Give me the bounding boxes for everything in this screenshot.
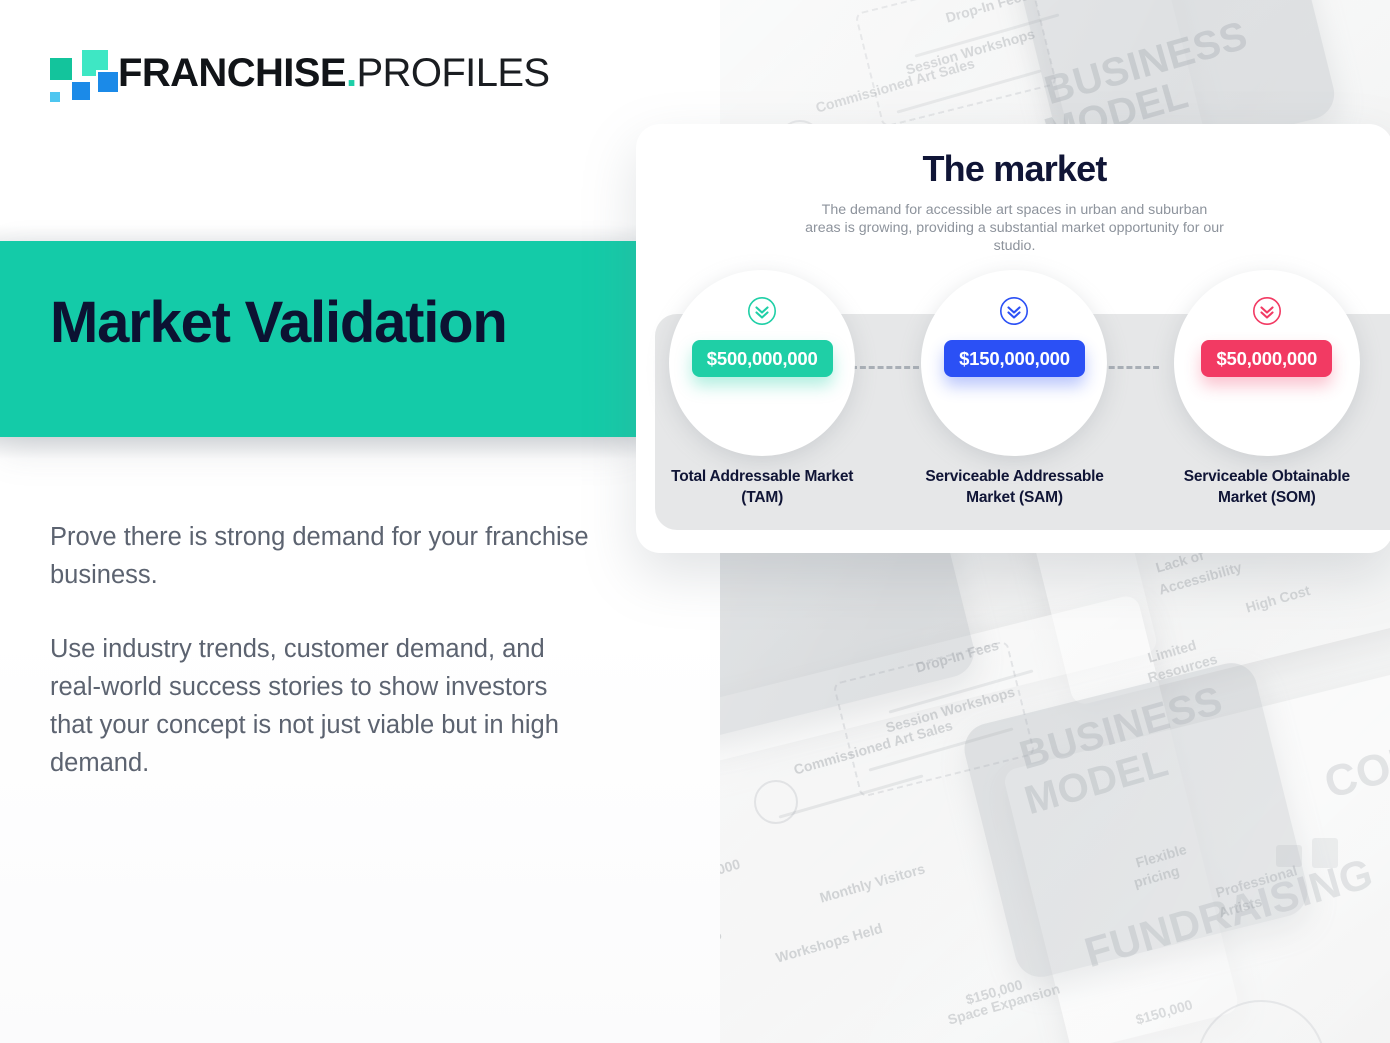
brand-wordmark: FRANCHISE.PROFILES	[118, 42, 550, 104]
deco-circle	[754, 780, 798, 824]
band-bottom-shadow	[0, 437, 636, 459]
market-value-tam: $500,000,000	[692, 340, 833, 377]
band-top-shadow	[0, 225, 636, 241]
five-squares-logo-mark	[44, 48, 110, 100]
brand-name-dot: .	[346, 51, 357, 95]
market-label-tam: Total Addressable Market (TAM)	[662, 466, 862, 508]
brand-name-light: PROFILES	[356, 51, 549, 95]
connector-tam-sam	[851, 366, 919, 369]
body-paragraph-2: Use industry trends, customer demand, an…	[50, 630, 590, 782]
market-bubble-som: $50,000,000	[1174, 270, 1360, 456]
market-value-sam: $150,000,000	[944, 340, 1085, 377]
double-chevron-down-icon	[1252, 296, 1282, 326]
page-title: Market Validation	[50, 291, 507, 355]
market-column-som[interactable]: $50,000,000 Serviceable Obtainable Marke…	[1141, 270, 1390, 553]
market-card-header: The market The demand for accessible art…	[636, 124, 1390, 255]
market-label-sam: Serviceable Addressable Market (SAM)	[914, 466, 1114, 508]
market-bubble-tam: $500,000,000	[669, 270, 855, 456]
market-card-title: The market	[696, 148, 1333, 189]
body-paragraph-1: Prove there is strong demand for your fr…	[50, 518, 590, 594]
market-card-subtitle: The demand for accessible art spaces in …	[805, 201, 1225, 255]
brand-logo[interactable]: FRANCHISE.PROFILES	[44, 44, 544, 106]
title-band: Market Validation	[0, 241, 636, 437]
left-content-panel: FRANCHISE.PROFILES Market Validation Pro…	[0, 0, 720, 1043]
deco-glyph	[1276, 845, 1302, 867]
body-copy: Prove there is strong demand for your fr…	[50, 518, 590, 782]
slide-root: BUSINESS MODEL BUSINESS MODEL COM FUNDRA…	[0, 0, 1390, 1043]
double-chevron-down-icon	[999, 296, 1029, 326]
market-card: The market The demand for accessible art…	[636, 124, 1390, 553]
deco-glyph	[1312, 838, 1338, 868]
double-chevron-down-icon	[747, 296, 777, 326]
market-value-som: $50,000,000	[1201, 340, 1332, 377]
market-bubble-sam: $150,000,000	[921, 270, 1107, 456]
brand-name-bold: FRANCHISE	[118, 51, 346, 95]
market-column-tam[interactable]: $500,000,000 Total Addressable Market (T…	[636, 270, 888, 553]
market-funnel: $500,000,000 Total Addressable Market (T…	[636, 270, 1390, 553]
market-label-som: Serviceable Obtainable Market (SOM)	[1167, 466, 1367, 508]
market-column-sam[interactable]: $150,000,000 Serviceable Addressable Mar…	[888, 270, 1140, 553]
